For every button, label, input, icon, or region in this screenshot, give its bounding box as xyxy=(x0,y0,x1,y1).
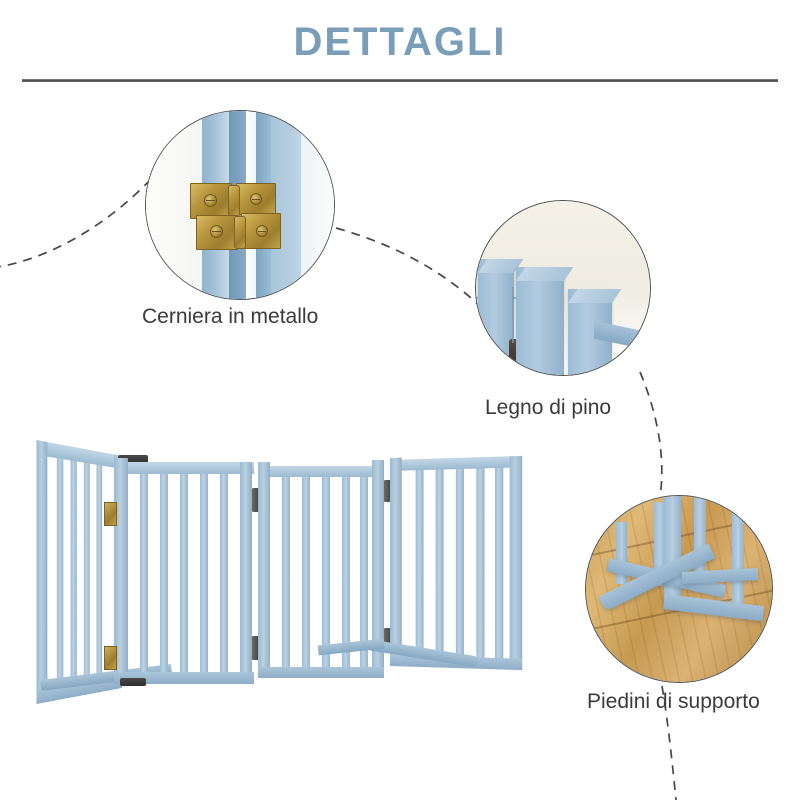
detail-infographic: DETTAGLI Cerniera in metallo xyxy=(0,0,800,800)
product-photo-pet-gate xyxy=(18,450,558,705)
hinge-knuckle-lower xyxy=(234,216,246,249)
header-divider xyxy=(22,79,778,82)
callout-circle-hinge xyxy=(145,110,335,300)
panel2-slat xyxy=(140,474,148,672)
gate-bottom-cap xyxy=(120,678,146,686)
panel1-slat xyxy=(84,463,90,682)
callout-circle-pine xyxy=(475,200,651,376)
panel4-slat xyxy=(436,470,444,657)
feet-center-post xyxy=(664,496,681,608)
panel1-left-stile xyxy=(37,440,48,704)
connector-pine-to-feet xyxy=(640,372,662,497)
panel1-slat xyxy=(71,460,77,683)
panel4-slat xyxy=(456,469,464,657)
hinge-screw-1 xyxy=(204,194,217,207)
gate-panel-4 xyxy=(390,456,522,670)
hinge-screw-4 xyxy=(256,225,268,237)
panel2-slat xyxy=(200,474,208,672)
panel4-left-stile xyxy=(390,458,402,667)
panel1-slat xyxy=(57,458,63,686)
panel2-slat xyxy=(220,474,228,672)
panel2-top-rail xyxy=(114,462,254,474)
hinge-screw-3 xyxy=(210,225,223,238)
panel4-slat xyxy=(476,468,484,657)
panel4-slat xyxy=(416,470,424,656)
pine-slat-center xyxy=(516,267,564,376)
hinge-panel-right xyxy=(301,110,335,300)
panel1-slat xyxy=(96,465,102,679)
panel3-left-stile xyxy=(258,462,270,678)
panel3-top-rail xyxy=(258,466,384,477)
panel3-slat xyxy=(302,477,310,667)
panel3-slat xyxy=(360,477,368,667)
gate-hinge-upper-left xyxy=(104,502,117,526)
gate-hinge-lower-left xyxy=(104,646,117,670)
connector-hinge-to-pine xyxy=(336,228,492,318)
panel3-slat xyxy=(322,477,330,667)
gate-panel-2 xyxy=(106,458,254,684)
panel2-right-stile xyxy=(240,462,252,680)
panel2-slat xyxy=(180,474,188,672)
feet-post-4 xyxy=(732,508,744,618)
page-title: DETTAGLI xyxy=(0,20,800,65)
panel4-slat xyxy=(495,468,503,658)
caption-feet: Piedini di supporto xyxy=(587,690,760,714)
panel4-right-stile xyxy=(510,456,523,664)
panel3-slat xyxy=(282,477,290,667)
panel3-bottom-rail xyxy=(258,667,384,678)
hinge-screw-2 xyxy=(250,193,262,205)
caption-pine: Legno di pino xyxy=(485,396,611,420)
caption-hinge: Cerniera in metallo xyxy=(142,305,318,329)
callout-circle-feet xyxy=(585,495,773,683)
panel3-slat xyxy=(342,477,350,667)
connector-left-to-hinge xyxy=(0,178,152,268)
pine-hinge-rod xyxy=(512,287,514,343)
hinge-knuckle-upper xyxy=(228,185,240,217)
panel2-slat xyxy=(160,474,168,672)
